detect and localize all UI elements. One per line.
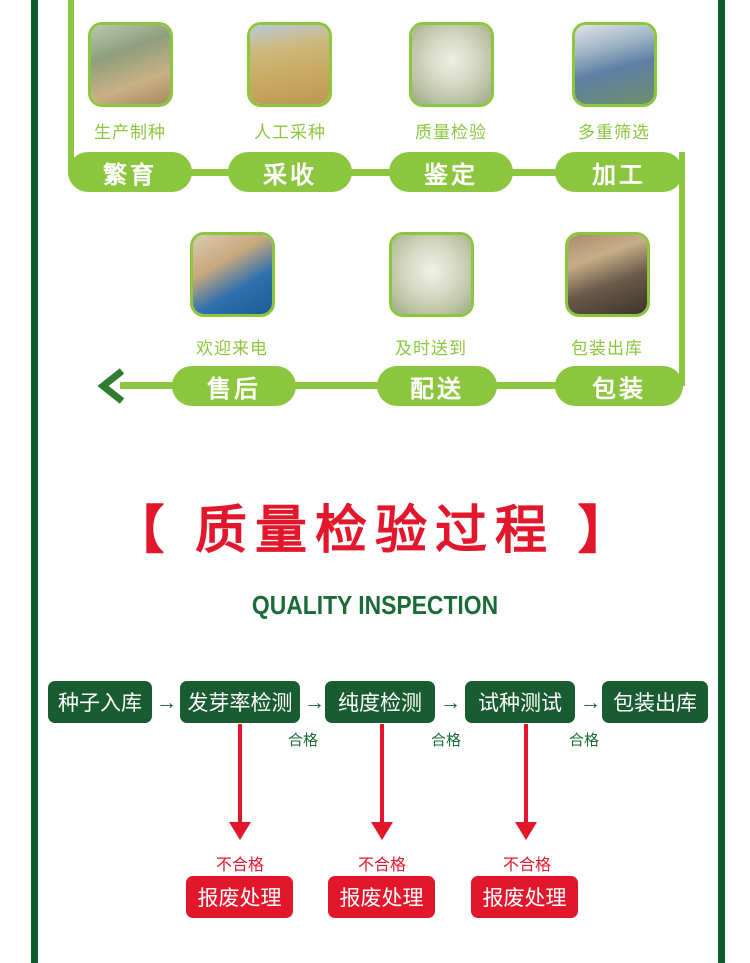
fail-label-2: 不合格	[342, 851, 422, 875]
pass-label-3: 合格	[569, 729, 599, 750]
reject-arrowhead-1	[229, 822, 251, 840]
arrow-right-icon-2: →	[304, 692, 325, 713]
scrap-box-3[interactable]: 报废处理	[471, 876, 578, 918]
scrap-box-1[interactable]: 报废处理	[186, 876, 293, 918]
reject-line-3	[524, 724, 528, 824]
arrow-right-icon-1: →	[156, 692, 177, 713]
scrap-box-2[interactable]: 报废处理	[328, 876, 435, 918]
pass-label-2: 合格	[431, 729, 461, 750]
reject-arrowhead-3	[515, 822, 537, 840]
reject-line-1	[238, 724, 242, 824]
arrow-right-icon-4: →	[580, 692, 601, 713]
fail-label-1: 不合格	[200, 851, 280, 875]
inspection-step-5[interactable]: 包装出库	[602, 681, 708, 723]
inspection-flow-section: 种子入库 → 发芽率检测 → 纯度检测 → 试种测试 → 包装出库 合格 合格 …	[0, 0, 750, 963]
inspection-step-4[interactable]: 试种测试	[465, 681, 575, 723]
reject-line-2	[380, 724, 384, 824]
arrow-right-icon-3: →	[440, 692, 461, 713]
pass-label-1: 合格	[288, 729, 318, 750]
fail-label-3: 不合格	[487, 851, 567, 875]
inspection-step-2[interactable]: 发芽率检测	[180, 681, 300, 723]
inspection-step-1[interactable]: 种子入库	[48, 681, 152, 723]
inspection-step-3[interactable]: 纯度检测	[325, 681, 435, 723]
reject-arrowhead-2	[371, 822, 393, 840]
infographic-page: 生产制种 繁育 人工采种 采收 质量检验 鉴定 多重筛选 加工 欢迎来电 售后	[0, 0, 750, 963]
